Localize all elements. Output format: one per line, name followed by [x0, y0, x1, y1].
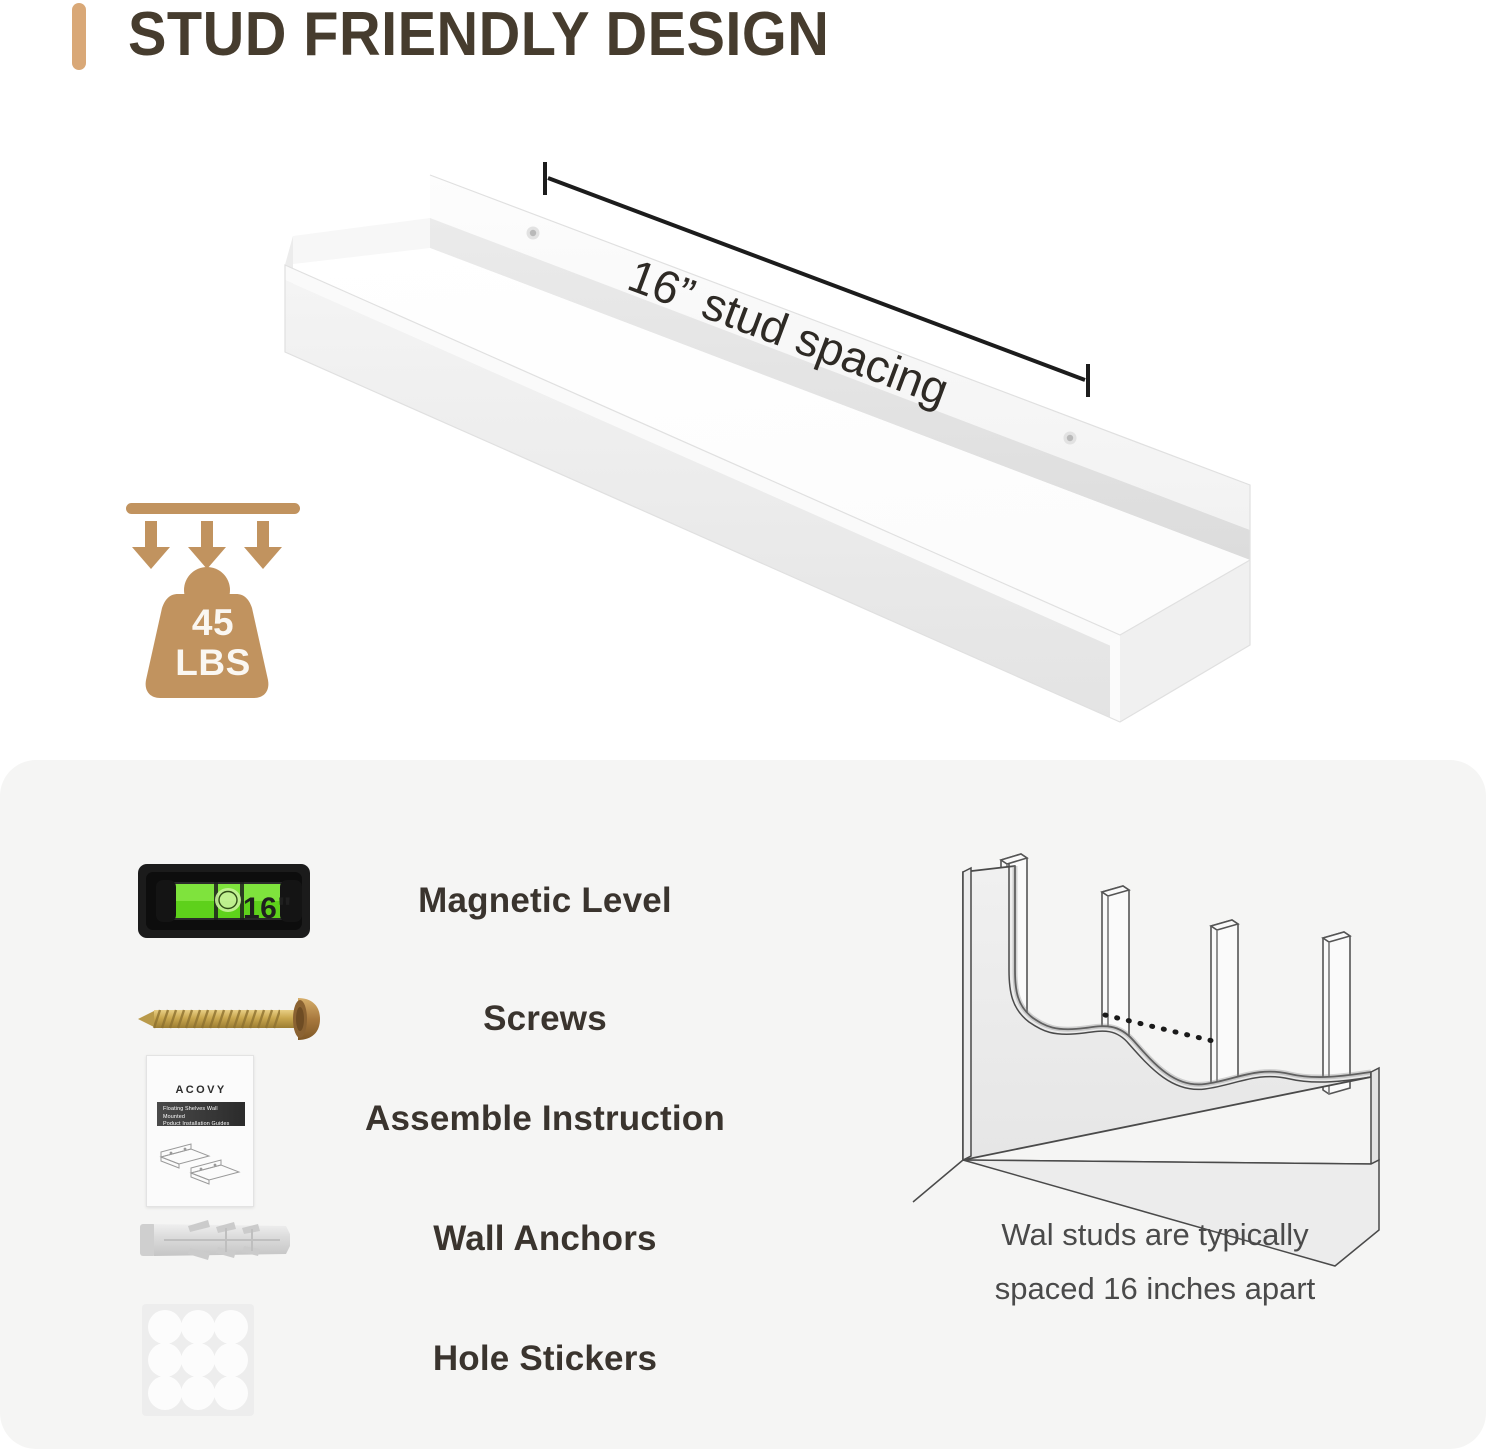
screw-hole: [1064, 432, 1077, 445]
stud-spacing-value: 16": [243, 892, 292, 926]
down-arrow: [244, 521, 282, 569]
caption-line-1: Wal studs are typically: [905, 1208, 1405, 1262]
booklet-line-2: Poduct Installation Guides: [163, 1121, 241, 1129]
stud-diagram-caption: Wal studs are typically spaced 16 inches…: [905, 1208, 1405, 1316]
accessory-label: Hole Stickers: [330, 1300, 760, 1418]
accessory-row-hole-stickers: Hole Stickers: [0, 1300, 760, 1418]
booklet-banner: Floating Shelves Wall Mounted Poduct Ins…: [157, 1102, 245, 1126]
accessory-label: Assemble Instruction: [330, 1060, 760, 1178]
weight-value: 45LBS: [118, 603, 308, 683]
hole-stickers-icon: [130, 1300, 330, 1418]
accessory-label: Wall Anchors: [330, 1180, 760, 1298]
title-accent-bar: [72, 3, 86, 70]
booklet-shelf-drawing: [157, 1134, 245, 1186]
screw-hole: [527, 227, 540, 240]
accessory-row-instruction: Assemble Instruction: [0, 1060, 760, 1178]
accessory-row-wall-anchors: Wall Anchors: [0, 1180, 760, 1298]
weight-capacity-badge: 45LBS: [118, 495, 308, 710]
down-arrow: [188, 521, 226, 569]
booklet-brand: ACOVY: [147, 1084, 255, 1096]
caption-line-2: spaced 16 inches apart: [905, 1262, 1405, 1316]
accessory-label: Magnetic Level: [330, 842, 760, 960]
accessory-row-magnetic-level: Magnetic Level: [0, 842, 760, 960]
infographic-stage: STUD FRIENDLY DESIGN: [0, 0, 1500, 1449]
page-title: STUD FRIENDLY DESIGN: [128, 0, 829, 72]
wall-stud: [1323, 932, 1350, 1094]
magnetic-level-icon: [130, 842, 330, 960]
down-arrow: [132, 521, 170, 569]
instruction-booklet-icon: ACOVY Floating Shelves Wall Mounted Podu…: [146, 1055, 254, 1207]
booklet-line-1: Floating Shelves Wall Mounted: [163, 1106, 241, 1121]
wall-stud: [1211, 920, 1238, 1090]
